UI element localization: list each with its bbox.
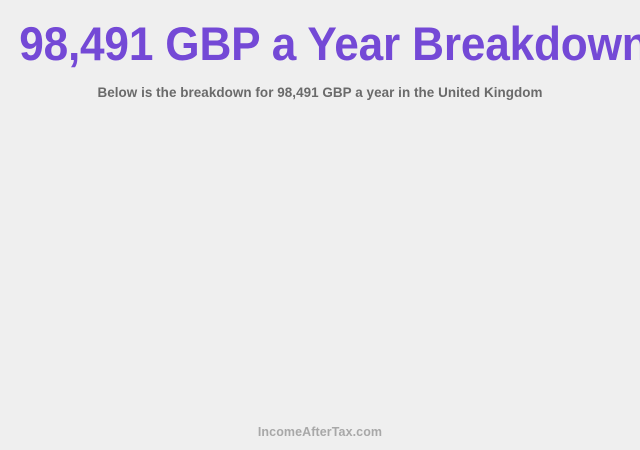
page-subtitle: Below is the breakdown for 98,491 GBP a … [13, 70, 627, 101]
infographic-page: 98,491 GBP a Year Breakdown Below is the… [0, 0, 640, 450]
page-title: 98,491 GBP a Year Breakdown [19, 18, 621, 70]
header: 98,491 GBP a Year Breakdown Below is the… [0, 0, 640, 101]
chart-area: Chart plotting area is blank in the scre… [0, 101, 640, 423]
chart-canvas [0, 101, 640, 423]
footer: IncomeAfterTax.com [0, 423, 640, 450]
site-credit: IncomeAfterTax.com [13, 423, 627, 440]
